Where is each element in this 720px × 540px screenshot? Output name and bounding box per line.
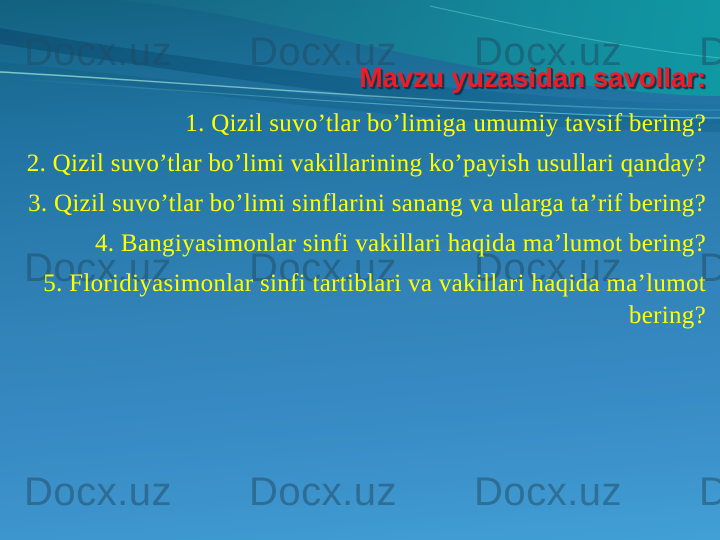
question-item: 1. Qizil suvo’tlar bo’limiga umumiy tavs…	[12, 108, 706, 140]
question-list: 1. Qizil suvo’tlar bo’limiga umumiy tavs…	[12, 108, 706, 332]
question-item: 2. Qizil suvo’tlar bo’limi vakillarining…	[12, 148, 706, 180]
slide-content: Mavzu yuzasidan savollar: 1. Qizil suvo’…	[0, 0, 720, 540]
question-item: 4. Bangiyasimonlar sinfi vakillari haqid…	[12, 228, 706, 260]
presentation-slide: Docx.uz Docx.uz Docx.uz Docx.uz Docx.uz …	[0, 0, 720, 540]
question-item: 5. Floridiyasimonlar sinfi tartiblari va…	[12, 268, 706, 332]
slide-title: Mavzu yuzasidan savollar:	[359, 62, 706, 94]
question-item: 3. Qizil suvo’tlar bo’limi sinflarini sa…	[12, 188, 706, 220]
